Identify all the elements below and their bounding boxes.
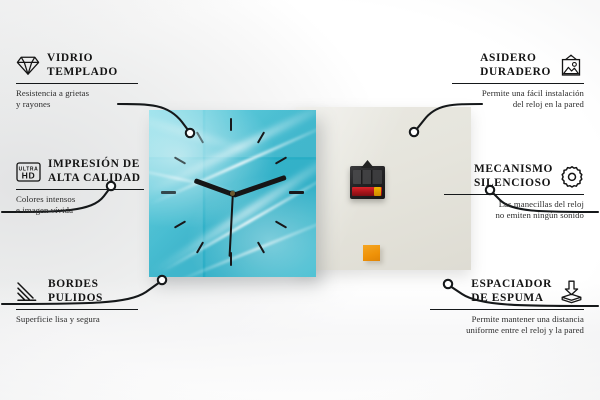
clock-hub bbox=[230, 191, 235, 196]
clock-tick bbox=[161, 191, 176, 194]
clock-tick bbox=[230, 118, 232, 131]
feature-subtitle: Colores intensos e imagen vívida bbox=[16, 194, 144, 216]
feature-subtitle-line1: Superficie lisa y segura bbox=[16, 314, 138, 325]
feature-title-line2: DE ESPUMA bbox=[471, 292, 552, 306]
feature-subtitle: Superficie lisa y segura bbox=[16, 314, 138, 325]
feature-title-line2: DURADERO bbox=[480, 66, 551, 80]
feature-title-line1: MECANISMO bbox=[474, 163, 553, 177]
feature-subtitle: Resistencia a grietas y rayones bbox=[16, 88, 138, 110]
feature-title-line1: IMPRESIÓN DE bbox=[48, 158, 141, 172]
feature-title: ESPACIADOR DE ESPUMA bbox=[430, 278, 584, 305]
feature-subtitle: Permite mantener una distancia uniforme … bbox=[430, 314, 584, 336]
ultra-hd-icon: ultra HD bbox=[16, 161, 41, 183]
clock-face bbox=[149, 110, 316, 277]
feature-title-line2: ALTA CALIDAD bbox=[48, 172, 141, 186]
feature-subtitle-line1: Permite una fácil instalación bbox=[452, 88, 584, 99]
divider bbox=[430, 309, 584, 310]
feature-title-line2: SILENCIOSO bbox=[474, 177, 553, 191]
mechanism-housing bbox=[353, 170, 382, 184]
feature-title-line2: TEMPLADO bbox=[47, 66, 118, 80]
feature-asidero-duradero: ASIDERO DURADERO Permite una fácil insta… bbox=[452, 52, 584, 110]
foam-spacer bbox=[363, 245, 380, 261]
feature-subtitle-line1: Resistencia a grietas bbox=[16, 88, 138, 99]
divider bbox=[16, 83, 138, 84]
diamond-icon bbox=[16, 55, 40, 76]
feature-title: MECANISMO SILENCIOSO bbox=[444, 163, 584, 190]
feature-title-line1: VIDRIO bbox=[47, 52, 118, 66]
svg-text:HD: HD bbox=[22, 170, 36, 180]
feature-subtitle-line2: del reloj en la pared bbox=[452, 99, 584, 110]
clock-tick bbox=[289, 191, 304, 194]
divider bbox=[452, 83, 584, 84]
feature-subtitle-line1: Colores intensos bbox=[16, 194, 144, 205]
arrow-down-foam-icon bbox=[559, 280, 584, 304]
feature-title-line2: PULIDOS bbox=[48, 292, 103, 306]
feature-subtitle-line2: uniforme entre el reloj y la pared bbox=[430, 325, 584, 336]
feature-title: VIDRIO TEMPLADO bbox=[16, 52, 138, 79]
feature-subtitle-line2: y rayones bbox=[16, 99, 138, 110]
clock-mechanism bbox=[350, 166, 385, 199]
divider bbox=[16, 189, 144, 190]
framed-picture-hanging-icon bbox=[558, 54, 584, 77]
feature-impresion-alta-calidad: ultra HD IMPRESIÓN DE ALTA CALIDAD Color… bbox=[16, 158, 144, 216]
feature-title: ultra HD IMPRESIÓN DE ALTA CALIDAD bbox=[16, 158, 144, 185]
feature-mecanismo-silencioso: MECANISMO SILENCIOSO Las manecillas del … bbox=[444, 163, 584, 221]
feature-subtitle-line1: Las manecillas del reloj bbox=[444, 199, 584, 210]
gear-icon bbox=[560, 165, 584, 189]
feature-title-line1: ESPACIADOR bbox=[471, 278, 552, 292]
battery bbox=[352, 187, 382, 196]
feature-title-line1: BORDES bbox=[48, 278, 103, 292]
connector-dot bbox=[158, 276, 166, 284]
feature-title: BORDES PULIDOS bbox=[16, 278, 138, 305]
feature-subtitle-line2: no emiten ningún sonido bbox=[444, 210, 584, 221]
feature-title: ASIDERO DURADERO bbox=[452, 52, 584, 79]
feature-vidrio-templado: VIDRIO TEMPLADO Resistencia a grietas y … bbox=[16, 52, 138, 110]
feature-subtitle-line2: e imagen vívida bbox=[16, 205, 144, 216]
feature-subtitle-line1: Permite mantener una distancia bbox=[430, 314, 584, 325]
divider bbox=[444, 194, 584, 195]
polished-edges-icon bbox=[16, 281, 41, 302]
feature-subtitle: Las manecillas del reloj no emiten ningú… bbox=[444, 199, 584, 221]
divider bbox=[16, 309, 138, 310]
product-infographic: VIDRIO TEMPLADO Resistencia a grietas y … bbox=[0, 0, 600, 400]
glass-wall-clock bbox=[149, 110, 316, 277]
feature-subtitle: Permite una fácil instalación del reloj … bbox=[452, 88, 584, 110]
feature-title-line1: ASIDERO bbox=[480, 52, 551, 66]
feature-bordes-pulidos: BORDES PULIDOS Superficie lisa y segura bbox=[16, 278, 138, 325]
feature-espaciador-de-espuma: ESPACIADOR DE ESPUMA Permite mantener un… bbox=[430, 278, 584, 336]
